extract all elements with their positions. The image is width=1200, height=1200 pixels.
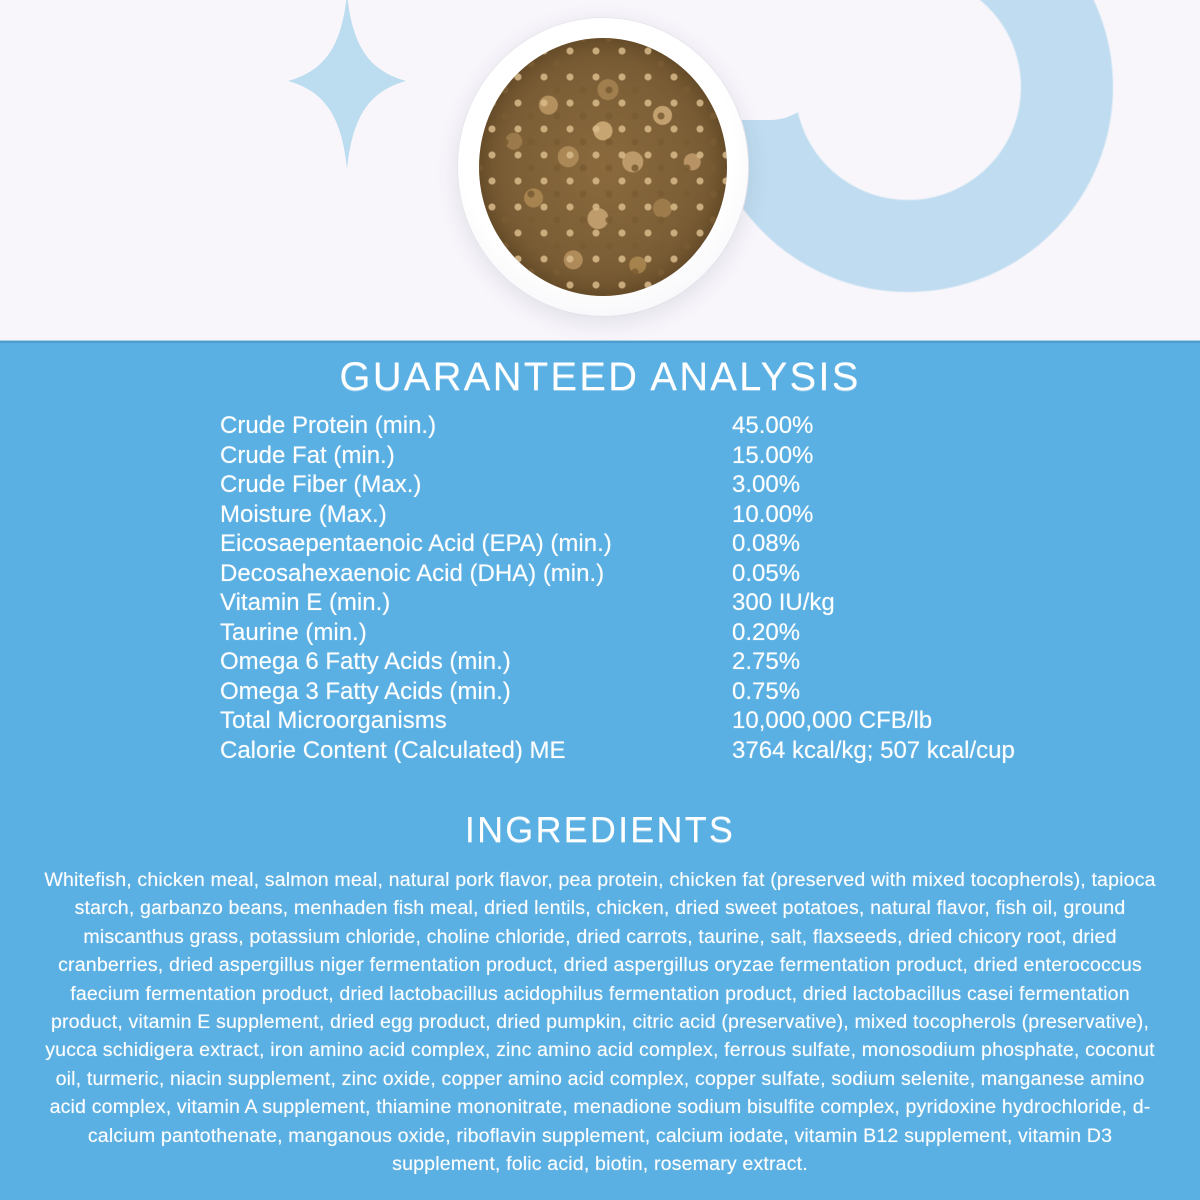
nutrient-label: Crude Fat (min.) (220, 441, 732, 470)
nutrient-label: Taurine (min.) (220, 618, 732, 647)
nutrient-label: Eicosaepentaenoic Acid (EPA) (min.) (220, 529, 732, 558)
ingredients-title: INGREDIENTS (0, 810, 1200, 850)
nutrition-panel: GUARANTEED ANALYSIS Crude Protein (min.)… (0, 343, 1200, 1200)
nutrient-label: Total Microorganisms (220, 706, 732, 735)
nutrient-label: Moisture (Max.) (220, 500, 732, 529)
guaranteed-analysis-row: Crude Protein (min.)45.00% (220, 411, 1100, 441)
guaranteed-analysis-title: GUARANTEED ANALYSIS (0, 355, 1200, 399)
nutrient-label: Omega 3 Fatty Acids (min.) (220, 677, 732, 706)
nutrient-value: 2.75% (732, 647, 1100, 676)
kibble-bowl-image (457, 17, 749, 317)
bowl-rim (457, 17, 749, 317)
guaranteed-analysis-row: Calorie Content (Calculated) ME3764 kcal… (220, 736, 1100, 766)
sparkle-decoration-icon (288, 0, 406, 169)
ingredients-body-text: Whitefish, chicken meal, salmon meal, na… (36, 866, 1164, 1178)
guaranteed-analysis-row: Total Microorganisms10,000,000 CFB/lb (220, 706, 1100, 736)
guaranteed-analysis-row: Eicosaepentaenoic Acid (EPA) (min.)0.08% (220, 529, 1100, 559)
guaranteed-analysis-table: Crude Protein (min.)45.00%Crude Fat (min… (220, 411, 1100, 765)
nutrient-value: 10.00% (732, 500, 1100, 529)
nutrient-value: 0.20% (732, 618, 1100, 647)
guaranteed-analysis-row: Omega 3 Fatty Acids (min.)0.75% (220, 677, 1100, 707)
nutrient-value: 3.00% (732, 470, 1100, 499)
nutrient-label: Omega 6 Fatty Acids (min.) (220, 647, 732, 676)
guaranteed-analysis-row: Decosahexaenoic Acid (DHA) (min.)0.05% (220, 559, 1100, 589)
nutrient-value: 45.00% (732, 411, 1100, 440)
nutrient-value: 15.00% (732, 441, 1100, 470)
nutrient-label: Crude Protein (min.) (220, 411, 732, 440)
nutrient-value: 0.75% (732, 677, 1100, 706)
guaranteed-analysis-row: Taurine (min.)0.20% (220, 618, 1100, 648)
guaranteed-analysis-row: Omega 6 Fatty Acids (min.)2.75% (220, 647, 1100, 677)
nutrient-label: Decosahexaenoic Acid (DHA) (min.) (220, 559, 732, 588)
pet-food-label-page: GUARANTEED ANALYSIS Crude Protein (min.)… (0, 0, 1200, 1200)
nutrient-value: 3764 kcal/kg; 507 kcal/cup (732, 736, 1100, 765)
nutrient-value: 0.05% (732, 559, 1100, 588)
guaranteed-analysis-row: Crude Fat (min.)15.00% (220, 441, 1100, 471)
guaranteed-analysis-row: Vitamin E (min.)300 IU/kg (220, 588, 1100, 618)
nutrient-label: Crude Fiber (Max.) (220, 470, 732, 499)
product-photo-band (0, 0, 1200, 342)
nutrient-value: 0.08% (732, 529, 1100, 558)
guaranteed-analysis-row: Moisture (Max.)10.00% (220, 500, 1100, 530)
guaranteed-analysis-row: Crude Fiber (Max.)3.00% (220, 470, 1100, 500)
nutrient-label: Vitamin E (min.) (220, 588, 732, 617)
nutrient-value: 10,000,000 CFB/lb (732, 706, 1100, 735)
nutrient-label: Calorie Content (Calculated) ME (220, 736, 732, 765)
nutrient-value: 300 IU/kg (732, 588, 1100, 617)
